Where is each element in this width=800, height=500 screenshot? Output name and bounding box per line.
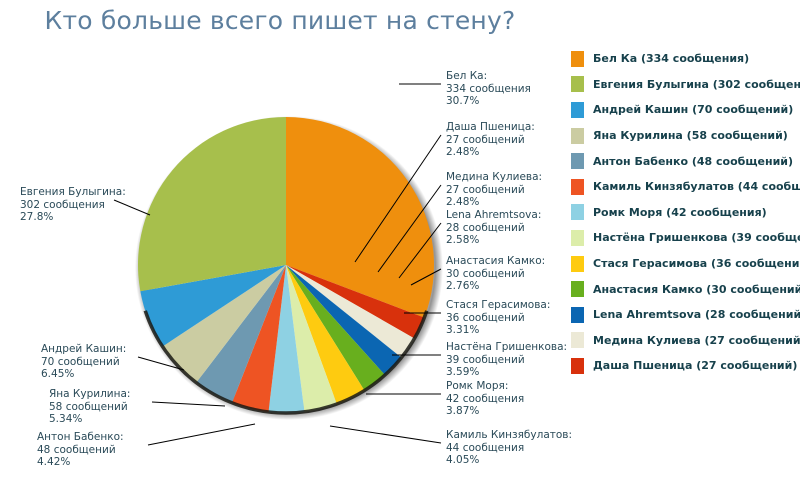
callout-count: 27 сообщений	[446, 184, 542, 197]
callout-name: Анастасия Камко:	[446, 255, 545, 268]
callout-percent: 3.87%	[446, 405, 524, 418]
legend-color-swatch	[571, 179, 584, 195]
callout-percent: 4.42%	[37, 456, 124, 469]
legend-item[interactable]: Настёна Гришенкова (39 сообщений)	[566, 225, 800, 251]
legend-item-label: Даша Пшеница (27 сообщений)	[593, 359, 797, 372]
pie-callout: Ромк Моря:42 сообщения3.87%	[446, 380, 524, 418]
callout-percent: 30.7%	[446, 95, 531, 108]
callout-name: Медина Кулиева:	[446, 171, 542, 184]
legend-color-swatch	[571, 153, 584, 169]
legend-item[interactable]: Камиль Кинзябулатов (44 сообщения)	[566, 174, 800, 200]
callout-name: Настёна Гришенкова:	[446, 341, 567, 354]
callout-count: 39 сообщений	[446, 354, 567, 367]
legend-item-label: Яна Курилина (58 сообщений)	[593, 129, 788, 142]
legend-item[interactable]: Яна Курилина (58 сообщений)	[566, 123, 800, 149]
callout-name: Бел Ка:	[446, 70, 531, 83]
legend-color-swatch	[571, 358, 584, 374]
legend-item-label: Ромк Моря (42 сообщения)	[593, 206, 767, 219]
callout-count: 48 сообщений	[37, 444, 124, 457]
pie-callout: Стася Герасимова:36 сообщений3.31%	[446, 299, 550, 337]
callout-percent: 27.8%	[20, 211, 126, 224]
legend-item-label: Настёна Гришенкова (39 сообщений)	[593, 231, 800, 244]
callout-percent: 2.48%	[446, 146, 535, 159]
pie-callout: Медина Кулиева:27 сообщений2.48%	[446, 171, 542, 209]
legend-color-swatch	[571, 281, 584, 297]
legend-color-swatch	[571, 128, 584, 144]
legend-color-swatch	[571, 256, 584, 272]
pie-callout: Антон Бабенко:48 сообщений4.42%	[37, 431, 124, 469]
callout-count: 42 сообщения	[446, 393, 524, 406]
callout-count: 302 сообщения	[20, 199, 126, 212]
callout-count: 70 сообщений	[41, 356, 126, 369]
pie-callout: Lena Ahremtsova:28 сообщений2.58%	[446, 209, 541, 247]
callout-count: 334 сообщения	[446, 83, 531, 96]
legend-item-label: Бел Ка (334 сообщения)	[593, 52, 749, 65]
pie-callout: Андрей Кашин:70 сообщений6.45%	[41, 343, 126, 381]
callout-name: Антон Бабенко:	[37, 431, 124, 444]
legend-color-swatch	[571, 76, 584, 92]
pie-callout: Настёна Гришенкова:39 сообщений3.59%	[446, 341, 567, 379]
legend-item[interactable]: Евгения Булыгина (302 сообщения)	[566, 72, 800, 98]
callout-count: 58 сообщений	[49, 401, 130, 414]
callout-percent: 2.58%	[446, 234, 541, 247]
callout-name: Яна Курилина:	[49, 388, 130, 401]
callout-count: 36 сообщений	[446, 312, 550, 325]
legend-item-label: Анастасия Камко (30 сообщений)	[593, 283, 800, 296]
legend-item[interactable]: Антон Бабенко (48 сообщений)	[566, 148, 800, 174]
callout-name: Lena Ahremtsova:	[446, 209, 541, 222]
page-title: Кто больше всего пишет на стену?	[0, 6, 560, 35]
legend-item[interactable]: Анастасия Камко (30 сообщений)	[566, 276, 800, 302]
legend-item-label: Андрей Кашин (70 сообщений)	[593, 103, 793, 116]
legend-item[interactable]: Стася Герасимова (36 сообщений)	[566, 251, 800, 277]
callout-labels: Бел Ка:334 сообщения30.7%Даша Пшеница:27…	[0, 40, 560, 500]
legend-item-label: Медина Кулиева (27 сообщений)	[593, 334, 800, 347]
legend-item-label: Евгения Булыгина (302 сообщения)	[593, 78, 800, 91]
callout-name: Стася Герасимова:	[446, 299, 550, 312]
callout-percent: 5.34%	[49, 413, 130, 426]
callout-name: Камиль Кинзябулатов:	[446, 429, 572, 442]
chart-legend: Бел Ка (334 сообщения)Евгения Булыгина (…	[566, 46, 800, 379]
callout-count: 44 сообщения	[446, 442, 572, 455]
callout-name: Ромк Моря:	[446, 380, 524, 393]
legend-item[interactable]: Бел Ка (334 сообщения)	[566, 46, 800, 72]
callout-percent: 2.48%	[446, 196, 542, 209]
callout-percent: 2.76%	[446, 280, 545, 293]
pie-callout: Камиль Кинзябулатов:44 сообщения4.05%	[446, 429, 572, 467]
legend-item-label: Камиль Кинзябулатов (44 сообщения)	[593, 180, 800, 193]
pie-chart-area: Бел Ка:334 сообщения30.7%Даша Пшеница:27…	[0, 40, 560, 500]
legend-item[interactable]: Медина Кулиева (27 сообщений)	[566, 328, 800, 354]
legend-item[interactable]: Андрей Кашин (70 сообщений)	[566, 97, 800, 123]
pie-callout: Яна Курилина:58 сообщений5.34%	[49, 388, 130, 426]
callout-percent: 3.31%	[446, 324, 550, 337]
legend-item[interactable]: Lena Ahremtsova (28 сообщений)	[566, 302, 800, 328]
legend-color-swatch	[571, 51, 584, 67]
pie-callout: Евгения Булыгина:302 сообщения27.8%	[20, 186, 126, 224]
pie-callout: Анастасия Камко:30 сообщений2.76%	[446, 255, 545, 293]
legend-item-label: Антон Бабенко (48 сообщений)	[593, 155, 793, 168]
callout-name: Андрей Кашин:	[41, 343, 126, 356]
pie-callout: Даша Пшеница:27 сообщений2.48%	[446, 121, 535, 159]
legend-color-swatch	[571, 230, 584, 246]
callout-name: Даша Пшеница:	[446, 121, 535, 134]
legend-item[interactable]: Даша Пшеница (27 сообщений)	[566, 353, 800, 379]
callout-percent: 6.45%	[41, 368, 126, 381]
legend-item-label: Lena Ahremtsova (28 сообщений)	[593, 308, 800, 321]
callout-count: 28 сообщений	[446, 222, 541, 235]
legend-color-swatch	[571, 332, 584, 348]
callout-percent: 4.05%	[446, 454, 572, 467]
legend-color-swatch	[571, 102, 584, 118]
pie-callout: Бел Ка:334 сообщения30.7%	[446, 70, 531, 108]
legend-color-swatch	[571, 204, 584, 220]
legend-color-swatch	[571, 307, 584, 323]
callout-percent: 3.59%	[446, 366, 567, 379]
callout-count: 27 сообщений	[446, 134, 535, 147]
callout-name: Евгения Булыгина:	[20, 186, 126, 199]
legend-item-label: Стася Герасимова (36 сообщений)	[593, 257, 800, 270]
callout-count: 30 сообщений	[446, 268, 545, 281]
legend-item[interactable]: Ромк Моря (42 сообщения)	[566, 200, 800, 226]
